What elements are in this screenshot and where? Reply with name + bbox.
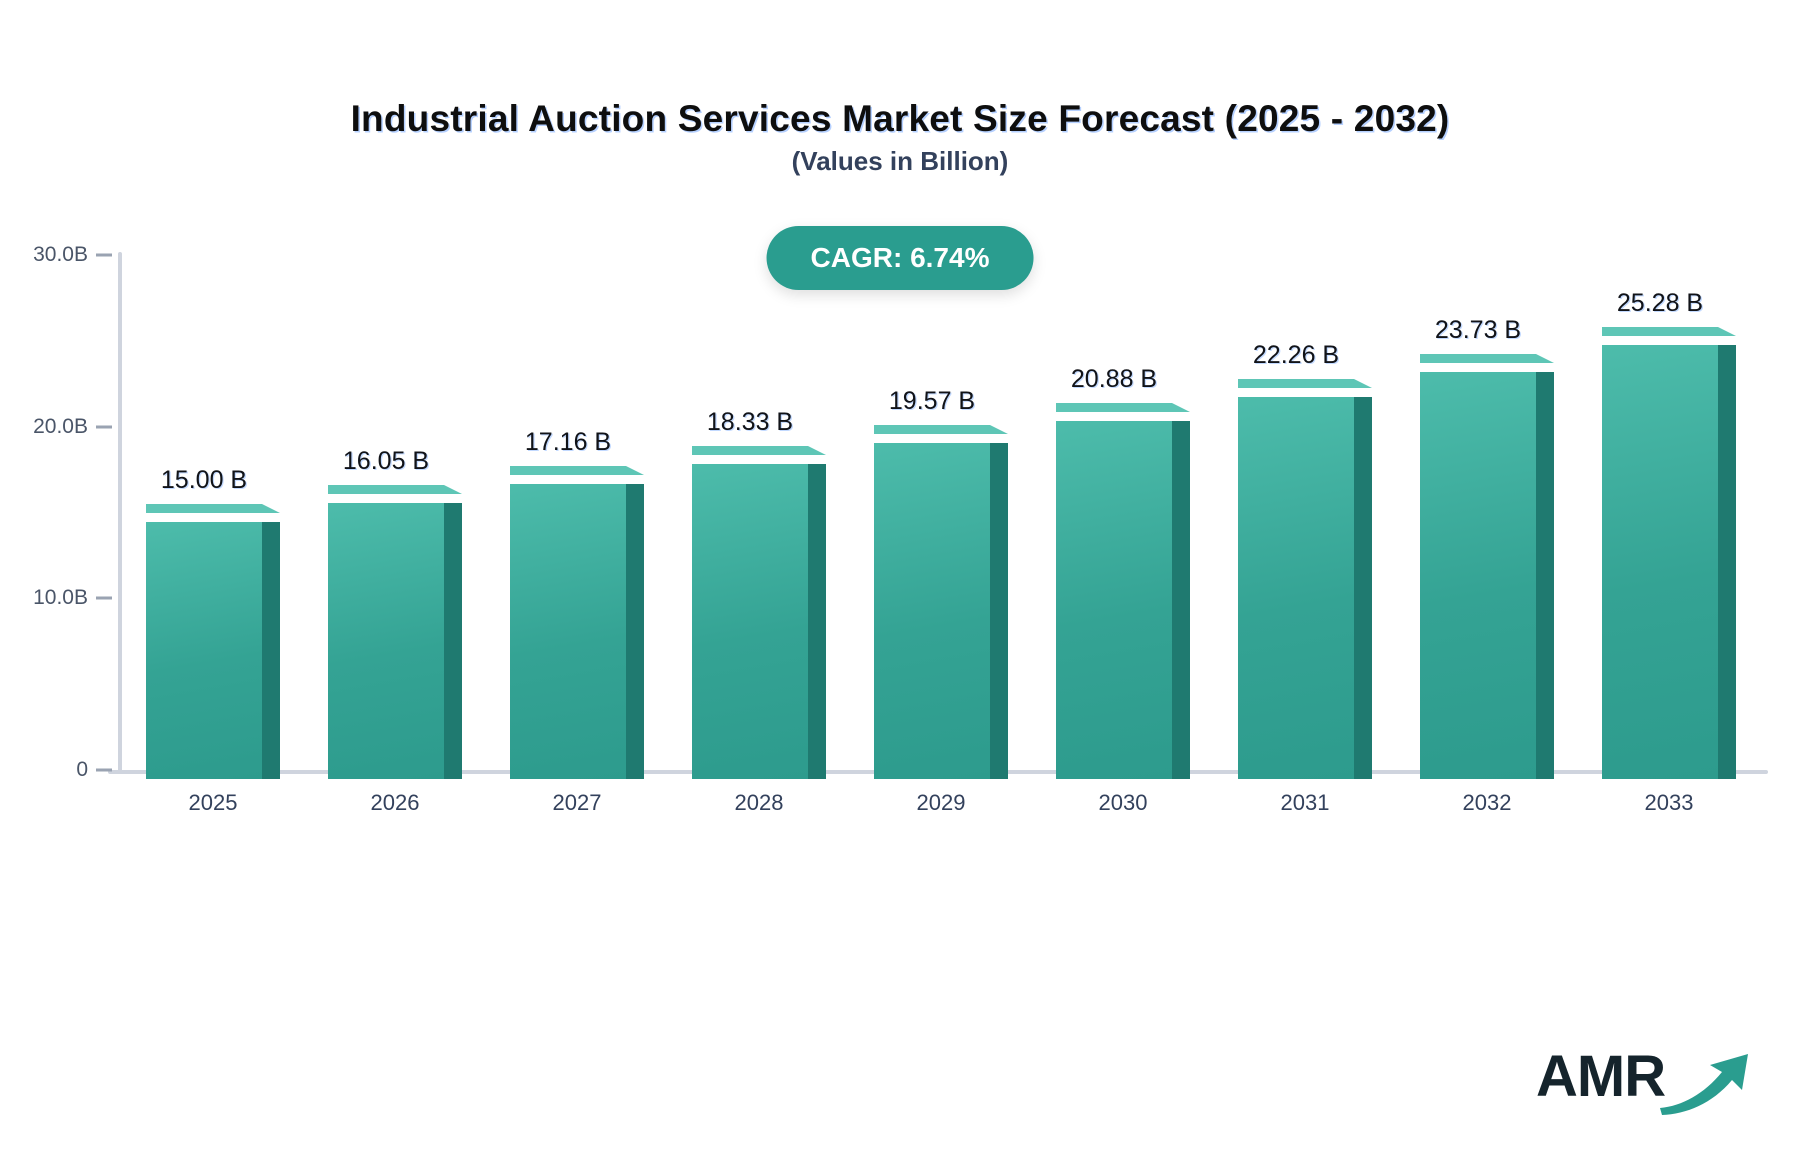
y-axis-tick-label: 20.0B [33,415,88,439]
bar-2031[interactable] [1238,388,1372,779]
bar-value-label: 22.26 B [1216,341,1376,370]
bar-side-face [262,522,280,780]
x-axis-tick-label: 2031 [1235,790,1375,816]
x-axis-tick-label: 2027 [507,790,647,816]
bar-2025[interactable] [146,513,280,780]
x-axis-tick-label: 2033 [1599,790,1739,816]
y-axis-tick-mark [96,597,112,600]
bar-side-face [1172,421,1190,779]
cagr-badge: CAGR: 6.74% [767,226,1034,290]
x-axis-tick-label: 2026 [325,790,465,816]
y-axis-tick-label: 10.0B [33,586,88,610]
x-axis-tick-label: 2029 [871,790,1011,816]
bar-value-label: 20.88 B [1034,365,1194,394]
bar-front-face [146,522,262,780]
bar-value-label: 17.16 B [488,428,648,457]
growth-arrow-icon [1656,1046,1756,1116]
bar-value-label: 16.05 B [306,447,466,476]
y-axis-tick-label: 0 [76,758,88,782]
bar-side-face [1536,372,1554,779]
bar-front-face [510,484,626,779]
bar-2029[interactable] [874,434,1008,779]
bar-side-face [808,464,826,779]
page-title: Industrial Auction Services Market Size … [0,98,1800,140]
x-axis-tick-label: 2025 [143,790,283,816]
amr-wordmark: AMR [1536,1048,1665,1106]
bar-top-face [1056,403,1190,412]
bar-front-face [1238,397,1354,779]
bar-top-face [1420,354,1554,363]
bar-top-face [328,485,462,494]
bar-2026[interactable] [328,494,462,779]
bar-value-label: 25.28 B [1580,289,1740,318]
bar-top-face [146,504,280,513]
y-axis-tick-mark [96,425,112,428]
y-axis-line [118,252,122,772]
bar-2030[interactable] [1056,412,1190,779]
bar-side-face [1354,397,1372,779]
bar-value-label: 19.57 B [852,387,1012,416]
x-axis-tick-label: 2032 [1417,790,1557,816]
bar-2027[interactable] [510,475,644,779]
bar-front-face [1602,345,1718,779]
bar-value-label: 15.00 B [124,466,284,495]
bar-side-face [990,443,1008,779]
x-axis-tick-label: 2030 [1053,790,1193,816]
y-axis-tick-mark [96,769,112,772]
bar-front-face [692,464,808,779]
bar-top-face [1238,379,1372,388]
bar-2032[interactable] [1420,363,1554,779]
bar-top-face [1602,327,1736,336]
bar-2033[interactable] [1602,336,1736,779]
x-axis-tick-label: 2028 [689,790,829,816]
y-axis-tick-label: 30.0B [33,243,88,267]
amr-logo: AMR [1536,1040,1756,1130]
y-axis-tick-mark [96,254,112,257]
chart-card: Industrial Auction Services Market Size … [0,0,1800,1156]
bar-front-face [1056,421,1172,779]
bar-front-face [328,503,444,779]
bar-side-face [1718,345,1736,779]
bar-top-face [510,466,644,475]
bar-value-label: 18.33 B [670,408,830,437]
bar-side-face [444,503,462,779]
bar-top-face [692,446,826,455]
chart-subtitle: (Values in Billion) [0,146,1800,177]
bar-front-face [1420,372,1536,779]
bar-2028[interactable] [692,455,826,779]
bar-front-face [874,443,990,779]
bar-top-face [874,425,1008,434]
bar-value-label: 23.73 B [1398,316,1558,345]
bar-side-face [626,484,644,779]
